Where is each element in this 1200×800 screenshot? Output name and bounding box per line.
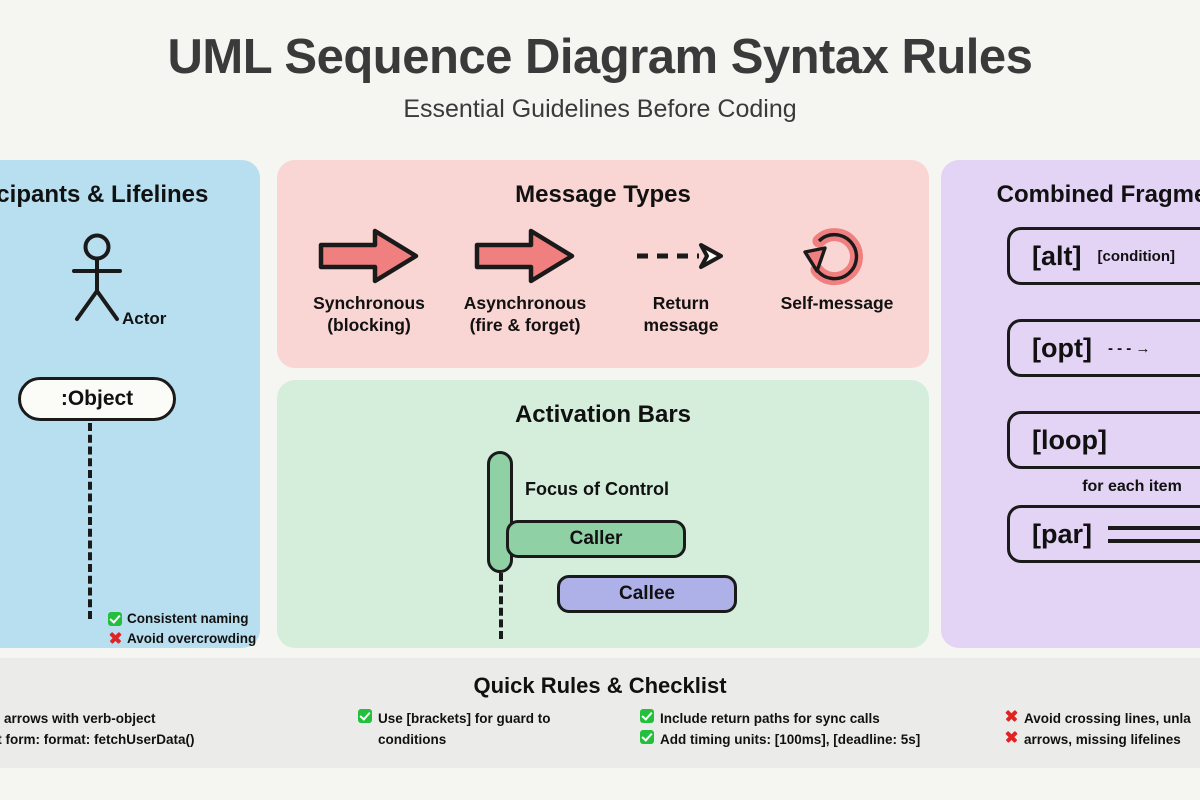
fragment-keyword: [opt]: [1032, 333, 1092, 364]
message-type-label: Asynchronous (fire & forget): [450, 293, 600, 337]
lifeline-dashed-line: [88, 423, 92, 619]
cross-icon: [108, 631, 122, 645]
panel-participants-lifelines: icipants & Lifelines Actor :Object Consi…: [0, 160, 260, 648]
checklist-item: Include return paths for sync calls: [640, 709, 980, 730]
checklist-column-returns: Include return paths for sync calls Add …: [640, 709, 980, 751]
checklist-item: Avoid crossing lines, unla: [1004, 709, 1200, 730]
message-type-synchronous: Synchronous (blocking): [294, 223, 444, 337]
message-type-return: Return message: [606, 223, 756, 337]
panel-activation-bars: Activation Bars Focus of Control Caller …: [277, 380, 929, 648]
callee-activation-bar: Callee: [557, 575, 737, 613]
fragment-condition-label: [condition]: [1098, 248, 1175, 265]
footer-checklist-columns: bel all arrows with verb-object object f…: [0, 709, 1200, 765]
checklist-item: Add timing units: [100ms], [deadline: 5s…: [640, 730, 980, 751]
cross-icon: [1004, 709, 1018, 723]
fragment-keyword: [loop]: [1032, 425, 1107, 456]
parallel-lines-icon: [1108, 526, 1200, 543]
note-label: Avoid overcrowding: [127, 629, 256, 649]
note-consistent-naming: Consistent naming: [108, 609, 256, 629]
check-icon: [358, 709, 372, 723]
checklist-sublabel: object form: format: fetchUserData(): [0, 730, 292, 751]
checklist-label: Add timing units: [100ms], [deadline: 5s…: [660, 730, 920, 751]
spacer: [941, 377, 1200, 411]
self-loop-arrow-icon: [762, 223, 912, 289]
solid-arrow-icon: [450, 223, 600, 289]
activation-diagram: Focus of Control Caller Callee: [277, 429, 929, 629]
panel-title-activation-bars: Activation Bars: [277, 380, 929, 429]
page-subtitle: Essential Guidelines Before Coding: [0, 83, 1200, 124]
participants-diagram: Actor :Object Consistent naming Avoid ov…: [0, 209, 260, 619]
fragment-opt: [opt] - - - →: [1007, 319, 1200, 377]
fragment-loop: [loop]: [1007, 411, 1200, 469]
dashed-open-arrow-icon: [606, 223, 756, 289]
checklist-column-avoid: Avoid crossing lines, unla arrows, missi…: [1004, 709, 1200, 751]
checklist-item: bel all arrows with verb-object: [0, 709, 292, 730]
check-icon: [108, 612, 122, 626]
fragment-keyword: [par]: [1032, 519, 1092, 550]
solid-arrow-icon: [294, 223, 444, 289]
footer-title: Quick Rules & Checklist: [0, 658, 1200, 699]
message-type-label: Synchronous (blocking): [294, 293, 444, 337]
note-avoid-overcrowding: Avoid overcrowding: [108, 629, 256, 649]
checklist-sublabel: conditions: [358, 730, 628, 751]
focus-of-control-label: Focus of Control: [525, 479, 669, 500]
message-type-asynchronous: Asynchronous (fire & forget): [450, 223, 600, 337]
object-lifeline-box: :Object: [18, 377, 176, 421]
caller-label: Caller: [570, 528, 623, 550]
checklist-column-guards: Use [brackets] for guard to conditions: [358, 709, 628, 751]
checklist-label: Include return paths for sync calls: [660, 709, 880, 730]
message-types-row: Synchronous (blocking) Asynchronous (fir…: [277, 209, 929, 337]
panel-title-message-types: Message Types: [277, 160, 929, 209]
spacer: [941, 285, 1200, 319]
combined-fragments-list: [alt] [condition] [opt] - - - → [loop] f…: [941, 209, 1200, 563]
caller-activation-bar: Caller: [506, 520, 686, 558]
checklist-label: Use [brackets] for guard to: [378, 709, 551, 730]
actor-label: Actor: [122, 309, 166, 329]
panel-message-types: Message Types Synchronous (blocking) Asy…: [277, 160, 929, 368]
dashed-arrow-icon: - - - →: [1108, 340, 1151, 357]
loop-caption: for each item: [1007, 478, 1200, 496]
actor-stick-figure-icon: [64, 233, 130, 330]
checklist-label: bel all arrows with verb-object: [0, 709, 156, 730]
note-label: Consistent naming: [127, 609, 249, 629]
page-title: UML Sequence Diagram Syntax Rules: [0, 0, 1200, 83]
footer-quick-rules: Quick Rules & Checklist bel all arrows w…: [0, 658, 1200, 768]
message-type-label: Self-message: [762, 293, 912, 315]
fragment-par: [par]: [1007, 505, 1200, 563]
callee-label: Callee: [619, 583, 675, 605]
fragment-alt: [alt] [condition]: [1007, 227, 1200, 285]
checklist-label: arrows, missing lifelines: [1024, 730, 1181, 751]
participants-notes: Consistent naming Avoid overcrowding: [108, 609, 256, 648]
page-header: UML Sequence Diagram Syntax Rules Essent…: [0, 0, 1200, 150]
object-label: :Object: [61, 387, 133, 411]
fragment-keyword: [alt]: [1032, 241, 1082, 272]
checklist-column-labeling: bel all arrows with verb-object object f…: [0, 709, 292, 751]
checklist-item: Use [brackets] for guard to: [358, 709, 628, 730]
panel-title-combined-fragments: Combined Fragme: [941, 160, 1200, 209]
message-type-label: Return message: [606, 293, 756, 337]
panel-title-participants: icipants & Lifelines: [0, 160, 260, 209]
checklist-label: Avoid crossing lines, unla: [1024, 709, 1191, 730]
checklist-item: arrows, missing lifelines: [1004, 730, 1200, 751]
cross-icon: [1004, 730, 1018, 744]
panel-combined-fragments: Combined Fragme [alt] [condition] [opt] …: [941, 160, 1200, 648]
check-icon: [640, 730, 654, 744]
message-type-self: Self-message: [762, 223, 912, 315]
check-icon: [640, 709, 654, 723]
activation-lifeline-dashed-line: [499, 573, 503, 639]
